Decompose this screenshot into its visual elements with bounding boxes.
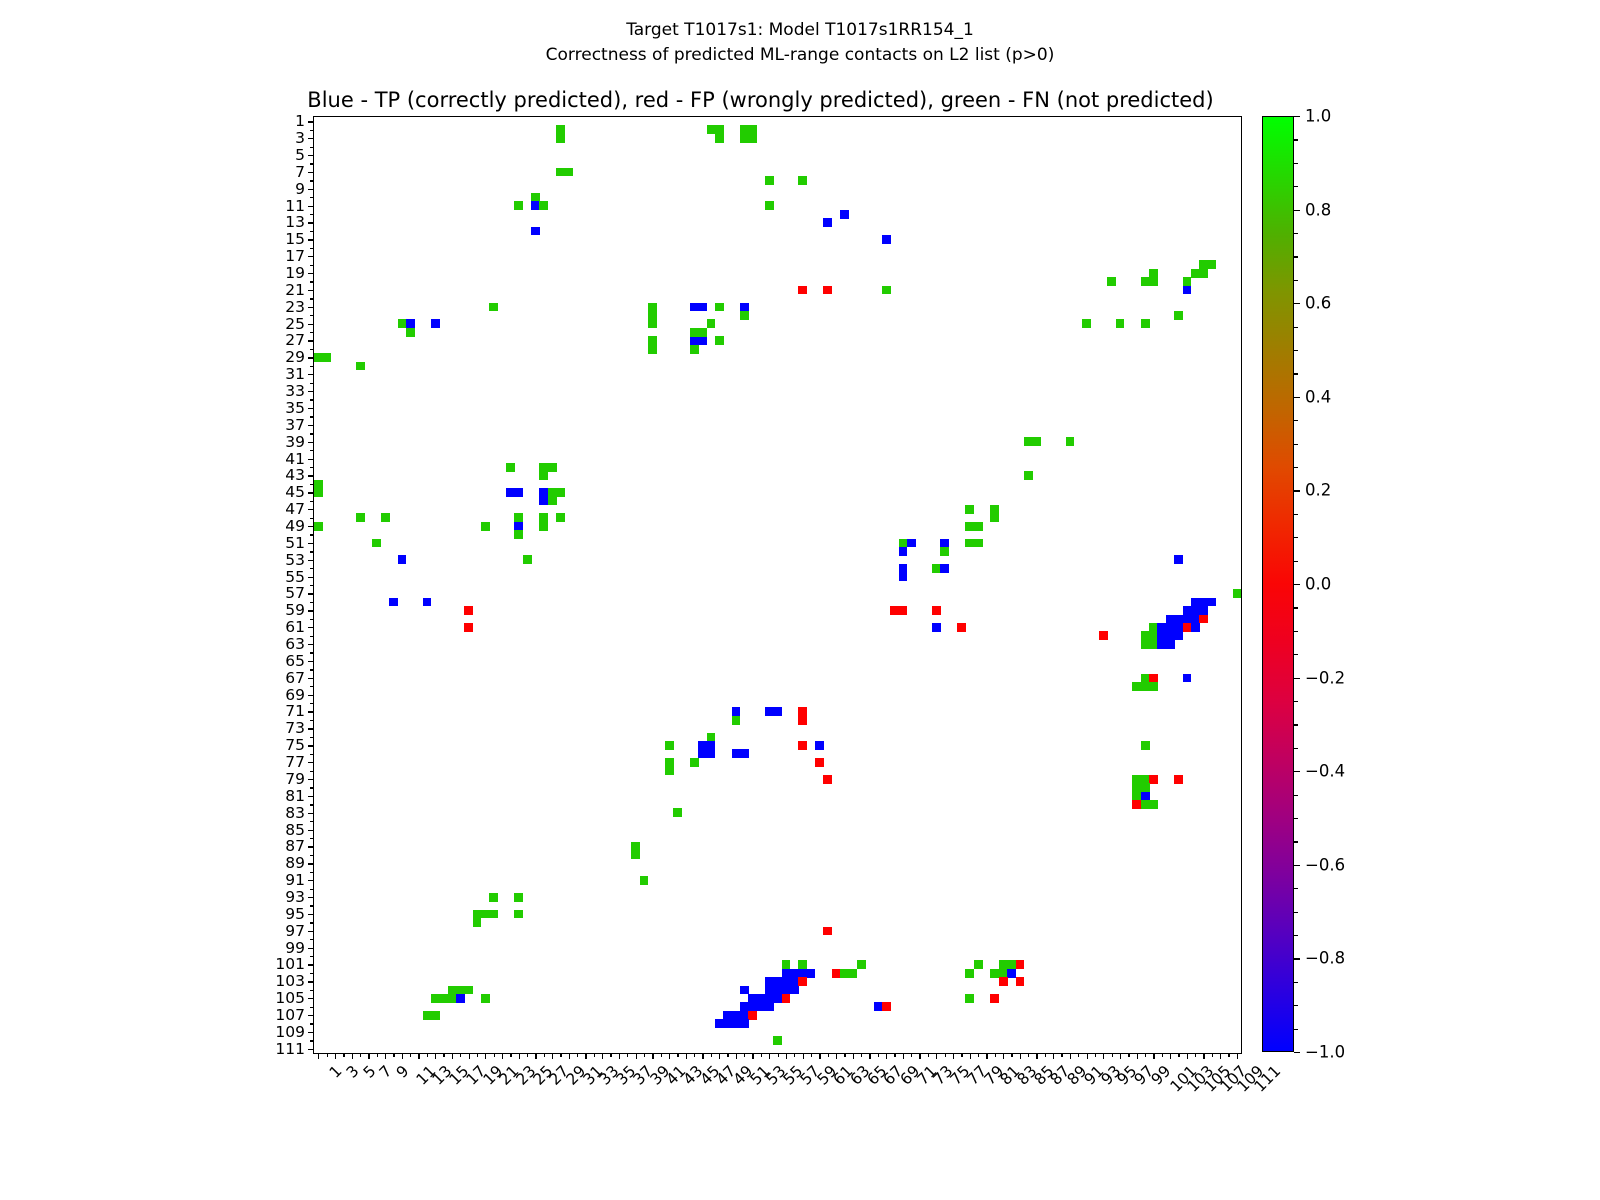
colorbar-tick (1294, 865, 1300, 866)
y-axis-label: 85 (285, 821, 305, 839)
x-axis-tick (393, 1053, 394, 1057)
heatmap-cell-fp (823, 286, 832, 295)
x-axis-tick (360, 1053, 361, 1057)
y-axis-tick (310, 298, 314, 299)
heatmap-cell-fp (1149, 775, 1158, 784)
y-axis-label: 13 (285, 213, 305, 231)
heatmap-cell-tp (807, 969, 816, 978)
colorbar-tick-label: 0.2 (1305, 481, 1331, 500)
x-axis-tick (1036, 1053, 1037, 1059)
y-axis-tick (310, 990, 314, 991)
y-axis-tick (308, 1049, 314, 1050)
heatmap-cell-fn (773, 1036, 782, 1045)
heatmap-cell-fn (514, 530, 523, 539)
heatmap-cell-fp (990, 994, 999, 1003)
x-axis-tick (443, 1053, 444, 1057)
y-axis-tick (308, 273, 314, 274)
heatmap-cell-fn (1082, 319, 1091, 328)
heatmap-cell-fn (314, 488, 323, 497)
y-axis-label: 5 (295, 146, 305, 164)
x-axis-tick (1195, 1053, 1196, 1057)
x-axis-tick (686, 1053, 687, 1059)
heatmap-cell-fn (1149, 682, 1158, 691)
y-axis-label: 81 (285, 787, 305, 805)
y-axis-tick (308, 442, 314, 443)
y-axis-tick (310, 433, 314, 434)
heatmap-cell-fp (1199, 615, 1208, 624)
y-axis-label: 29 (285, 348, 305, 366)
x-axis-tick (502, 1053, 503, 1059)
heatmap-cell-fn (765, 201, 774, 210)
y-axis-label: 45 (285, 483, 305, 501)
y-axis-tick (310, 248, 314, 249)
y-axis-tick (310, 602, 314, 603)
y-axis-tick (310, 804, 314, 805)
y-axis-label: 109 (275, 1023, 305, 1041)
colorbar-tick-label: 0.6 (1305, 294, 1331, 313)
x-axis-tick (552, 1053, 553, 1059)
y-axis-label: 1 (295, 112, 305, 130)
colorbar-tick-label: −0.2 (1305, 668, 1345, 687)
heatmap-cell-fn (1208, 260, 1217, 269)
x-axis-tick (769, 1053, 770, 1059)
heatmap-cell-fn (548, 496, 557, 505)
x-axis-tick (878, 1053, 879, 1057)
colorbar-minor-tick (1294, 748, 1298, 749)
x-axis-tick (736, 1053, 737, 1059)
y-axis-tick (310, 383, 314, 384)
y-axis-tick (308, 711, 314, 712)
y-axis-label: 111 (275, 1040, 305, 1058)
x-axis-tick (1162, 1053, 1163, 1057)
colorbar-minor-tick (1294, 935, 1298, 936)
heatmap-cell-fn (1149, 800, 1158, 809)
heatmap-cell-tp (456, 994, 465, 1003)
colorbar-minor-tick (1294, 444, 1298, 445)
y-axis-tick (310, 1007, 314, 1008)
y-axis-label: 39 (285, 433, 305, 451)
y-axis-tick (308, 1015, 314, 1016)
y-axis-tick (308, 138, 314, 139)
heatmap-cell-fn (648, 319, 657, 328)
x-axis-tick (527, 1053, 528, 1057)
heatmap-cell-fn (715, 134, 724, 143)
heatmap-cell-tp (398, 555, 407, 564)
y-axis-tick (310, 720, 314, 721)
heatmap-cell-fn (481, 994, 490, 1003)
y-axis-tick (308, 459, 314, 460)
heatmap-cell-fn (314, 522, 323, 531)
heatmap-cell-tp (698, 336, 707, 345)
y-axis-tick (310, 349, 314, 350)
heatmap-cell-fp (748, 1011, 757, 1020)
x-axis-tick (368, 1053, 369, 1059)
y-axis-label: 3 (295, 129, 305, 147)
x-axis-tick (427, 1053, 428, 1057)
x-axis-tick (544, 1053, 545, 1057)
y-axis-label: 75 (285, 736, 305, 754)
y-axis-label: 35 (285, 399, 305, 417)
x-axis-tick (844, 1053, 845, 1057)
x-axis-tick (1228, 1053, 1229, 1057)
x-axis-tick (894, 1053, 895, 1057)
x-axis-tick (535, 1053, 536, 1059)
heatmap-cell-fn (882, 286, 891, 295)
y-axis-tick (310, 905, 314, 906)
y-axis-tick (310, 585, 314, 586)
x-axis-label: 9 (393, 1062, 413, 1082)
heatmap-cell-fp (957, 623, 966, 632)
heatmap-cell-fp (464, 606, 473, 615)
x-axis-tick (1087, 1053, 1088, 1059)
x-axis-tick (1237, 1053, 1238, 1059)
y-axis-label: 71 (285, 702, 305, 720)
y-axis-label: 7 (295, 163, 305, 181)
x-axis-tick (327, 1053, 328, 1057)
x-axis-tick (1028, 1053, 1029, 1057)
x-axis-tick (719, 1053, 720, 1059)
heatmap-cell-tp (740, 749, 749, 758)
y-axis-tick (310, 518, 314, 519)
heatmap-cell-tp (1174, 631, 1183, 640)
y-axis-label: 107 (275, 1006, 305, 1024)
heatmap-cell-tp (1191, 623, 1200, 632)
x-axis-tick (1128, 1053, 1129, 1057)
colorbar-minor-tick (1294, 654, 1298, 655)
y-axis-label: 99 (285, 939, 305, 957)
colorbar-tick (1294, 116, 1300, 117)
x-axis-tick (836, 1053, 837, 1059)
heatmap-cell-tp (882, 235, 891, 244)
y-axis-label: 77 (285, 753, 305, 771)
colorbar-tick (1294, 1052, 1300, 1053)
y-axis-tick (310, 686, 314, 687)
x-axis-tick (1011, 1053, 1012, 1057)
colorbar-tick-label: 0.0 (1305, 575, 1331, 594)
y-axis-tick (310, 754, 314, 755)
colorbar-minor-tick (1294, 1005, 1298, 1006)
x-axis-label: 3 (343, 1062, 363, 1082)
heatmap-cell-fp (782, 994, 791, 1003)
colorbar-minor-tick (1294, 818, 1298, 819)
y-axis-tick (308, 813, 314, 814)
y-axis-tick (308, 914, 314, 915)
colorbar-tick-label: 0.8 (1305, 200, 1331, 219)
heatmap-cell-fn (372, 539, 381, 548)
contact-map-plot[interactable]: 1133557799111113131515171719192121232325… (313, 116, 1242, 1054)
heatmap-cell-fn (489, 303, 498, 312)
y-axis-tick (310, 855, 314, 856)
heatmap-cell-fn (556, 488, 565, 497)
heatmap-cell-tp (932, 623, 941, 632)
x-axis-tick (318, 1053, 319, 1059)
heatmap-cell-tp (790, 986, 799, 995)
colorbar-minor-tick (1294, 420, 1298, 421)
y-axis-tick (308, 509, 314, 510)
heatmap-cell-fp (823, 927, 832, 936)
y-axis-tick (308, 678, 314, 679)
x-axis-tick (477, 1053, 478, 1057)
heatmap-cell-fn (514, 910, 523, 919)
x-axis-tick (677, 1053, 678, 1057)
y-axis-tick (308, 931, 314, 932)
x-axis-tick (702, 1053, 703, 1059)
colorbar-tick (1294, 771, 1300, 772)
x-axis-tick (460, 1053, 461, 1057)
heatmap-cell-fn (1233, 589, 1242, 598)
heatmap-cell-fn (1032, 437, 1041, 446)
heatmap-cell-fp (882, 1002, 891, 1011)
x-axis-label: 5 (359, 1062, 379, 1082)
heatmap-cell-fn (974, 960, 983, 969)
y-axis-tick (308, 340, 314, 341)
heatmap-cell-fn (974, 539, 983, 548)
heatmap-cell-tp (431, 319, 440, 328)
y-axis-tick (308, 998, 314, 999)
y-axis-tick (308, 863, 314, 864)
heatmap-cell-tp (899, 547, 908, 556)
colorbar-tick-label: −0.8 (1305, 949, 1345, 968)
x-axis-tick (1137, 1053, 1138, 1059)
x-axis-tick (1070, 1053, 1071, 1059)
x-axis-tick (978, 1053, 979, 1057)
y-axis-tick (310, 484, 314, 485)
colorbar-minor-tick (1294, 186, 1298, 187)
y-axis-tick (310, 737, 314, 738)
x-axis-tick (936, 1053, 937, 1059)
x-axis-tick (727, 1053, 728, 1057)
x-axis-tick (1103, 1053, 1104, 1059)
y-axis-tick (308, 324, 314, 325)
x-axis-tick (610, 1053, 611, 1057)
heatmap-cell-fn (740, 311, 749, 320)
colorbar-minor-tick (1294, 888, 1298, 889)
y-axis-label: 79 (285, 770, 305, 788)
colorbar-minor-tick (1294, 280, 1298, 281)
y-axis-label: 87 (285, 837, 305, 855)
y-axis-tick (308, 526, 314, 527)
x-axis-tick (577, 1053, 578, 1057)
y-axis-tick (310, 703, 314, 704)
y-axis-tick (310, 939, 314, 940)
colorbar-gradient (1262, 116, 1294, 1052)
colorbar-minor-tick (1294, 795, 1298, 796)
x-axis-tick (970, 1053, 971, 1059)
heatmap-cell-fn (673, 808, 682, 817)
y-axis-tick (310, 889, 314, 890)
x-axis-tick (752, 1053, 753, 1059)
heatmap-cell-tp (707, 749, 716, 758)
x-axis-tick (928, 1053, 929, 1057)
y-axis-tick (308, 560, 314, 561)
y-axis-tick (310, 332, 314, 333)
x-axis-tick (1095, 1053, 1096, 1057)
heatmap-cell-fn (473, 918, 482, 927)
x-axis-tick (352, 1053, 353, 1059)
colorbar-minor-tick (1294, 982, 1298, 983)
x-axis-tick (435, 1053, 436, 1059)
y-axis-tick (310, 973, 314, 974)
heatmap-cell-fn (1141, 741, 1150, 750)
x-axis-tick (961, 1053, 962, 1057)
colorbar-tick (1294, 958, 1300, 959)
colorbar-minor-tick (1294, 631, 1298, 632)
heatmap-cell-fn (940, 547, 949, 556)
x-axis-tick (694, 1053, 695, 1057)
x-axis-label: 7 (376, 1062, 396, 1082)
y-axis-label: 61 (285, 618, 305, 636)
y-axis-tick (310, 231, 314, 232)
x-axis-tick (786, 1053, 787, 1059)
colorbar-tick (1294, 210, 1300, 211)
colorbar-minor-tick (1294, 841, 1298, 842)
y-axis-tick (308, 357, 314, 358)
y-axis-label: 73 (285, 719, 305, 737)
colorbar-minor-tick (1294, 256, 1298, 257)
y-axis-label: 21 (285, 281, 305, 299)
y-axis-label: 41 (285, 450, 305, 468)
y-axis-label: 19 (285, 264, 305, 282)
heatmap-cell-fn (715, 303, 724, 312)
x-axis-tick (886, 1053, 887, 1059)
colorbar-tick (1294, 490, 1300, 491)
y-axis-tick (308, 880, 314, 881)
heatmap-cell-tp (773, 707, 782, 716)
y-axis-tick (308, 964, 314, 965)
y-axis-tick (310, 1040, 314, 1041)
heatmap-cell-fn (1141, 319, 1150, 328)
colorbar-minor-tick (1294, 561, 1298, 562)
heatmap-cell-fn (798, 176, 807, 185)
y-axis-tick (308, 779, 314, 780)
heatmap-cell-tp (1208, 598, 1217, 607)
heatmap-cell-fn (690, 345, 699, 354)
y-axis-tick (308, 307, 314, 308)
x-axis-tick (711, 1053, 712, 1057)
x-axis-tick (485, 1053, 486, 1059)
colorbar-minor-tick (1294, 350, 1298, 351)
heatmap-cell-tp (531, 227, 540, 236)
heatmap-cell-layer (314, 117, 1241, 1053)
heatmap-cell-fn (565, 168, 574, 177)
x-axis-tick (652, 1053, 653, 1059)
heatmap-cell-fn (690, 758, 699, 767)
heatmap-cell-fp (999, 977, 1008, 986)
y-axis-tick (308, 610, 314, 611)
y-axis-tick (308, 661, 314, 662)
x-axis-tick (1053, 1053, 1054, 1059)
y-axis-tick (308, 374, 314, 375)
colorbar-tick-label: −0.6 (1305, 855, 1345, 874)
x-axis-tick (744, 1053, 745, 1057)
x-axis-tick (1112, 1053, 1113, 1057)
y-axis-label: 23 (285, 298, 305, 316)
y-axis-tick (308, 577, 314, 578)
heatmap-cell-fn (1199, 269, 1208, 278)
y-axis-tick (310, 501, 314, 502)
heatmap-cell-fn (489, 910, 498, 919)
heatmap-cell-tp (907, 539, 916, 548)
colorbar-minor-tick (1294, 373, 1298, 374)
colorbar-minor-tick (1294, 163, 1298, 164)
x-axis-tick (1212, 1053, 1213, 1057)
heatmap-cell-tp (899, 572, 908, 581)
x-axis-tick (377, 1053, 378, 1057)
x-axis-tick (385, 1053, 386, 1059)
y-axis-label: 31 (285, 365, 305, 383)
colorbar-tick (1294, 397, 1300, 398)
heatmap-cell-fn (1066, 437, 1075, 446)
y-axis-label: 49 (285, 517, 305, 535)
heatmap-cell-fp (932, 606, 941, 615)
heatmap-cell-fn (732, 716, 741, 725)
x-axis-tick (828, 1053, 829, 1057)
colorbar-minor-tick (1294, 701, 1298, 702)
y-axis-tick (310, 416, 314, 417)
y-axis-tick (310, 636, 314, 637)
heatmap-cell-fp (1016, 960, 1025, 969)
y-axis-label: 59 (285, 601, 305, 619)
x-axis-tick (1120, 1053, 1121, 1059)
y-axis-tick (310, 265, 314, 266)
y-axis-label: 47 (285, 500, 305, 518)
heatmap-cell-fn (698, 328, 707, 337)
y-axis-tick (310, 534, 314, 535)
heatmap-cell-fn (406, 328, 415, 337)
heatmap-cell-tp (940, 564, 949, 573)
y-axis-label: 51 (285, 534, 305, 552)
y-axis-tick (310, 315, 314, 316)
x-axis-tick (644, 1053, 645, 1057)
y-axis-tick (310, 281, 314, 282)
x-axis-tick (452, 1053, 453, 1059)
colorbar-tick-label: −1.0 (1305, 1043, 1345, 1062)
y-axis-label: 15 (285, 230, 305, 248)
colorbar-minor-tick (1294, 724, 1298, 725)
y-axis-tick (310, 551, 314, 552)
y-axis-label: 53 (285, 551, 305, 569)
heatmap-cell-tp (840, 210, 849, 219)
y-axis-label: 101 (275, 955, 305, 973)
x-axis-tick (627, 1053, 628, 1057)
y-axis-tick (310, 872, 314, 873)
x-axis-tick (602, 1053, 603, 1059)
x-axis-label: 1 (326, 1062, 346, 1082)
heatmap-cell-fn (481, 522, 490, 531)
heatmap-cell-fn (1024, 471, 1033, 480)
y-axis-tick (310, 956, 314, 957)
colorbar-minor-tick (1294, 233, 1298, 234)
colorbar-minor-tick (1294, 607, 1298, 608)
heatmap-cell-fp (1099, 631, 1108, 640)
y-axis-tick (308, 948, 314, 949)
heatmap-cell-fn (1149, 277, 1158, 286)
heatmap-cell-tp (389, 598, 398, 607)
x-axis-tick (1220, 1053, 1221, 1059)
x-axis-tick (995, 1053, 996, 1057)
heatmap-cell-tp (740, 1019, 749, 1028)
heatmap-cell-fn (1107, 277, 1116, 286)
y-axis-label: 43 (285, 466, 305, 484)
heatmap-cell-fp (815, 758, 824, 767)
suptitle-line-1: Target T1017s1: Model T1017s1RR154_1 (626, 20, 974, 40)
y-axis-tick (308, 897, 314, 898)
colorbar-tick (1294, 303, 1300, 304)
heatmap-cell-fn (556, 513, 565, 522)
colorbar-minor-tick (1294, 912, 1298, 913)
y-axis-label: 89 (285, 854, 305, 872)
y-axis-label: 97 (285, 922, 305, 940)
